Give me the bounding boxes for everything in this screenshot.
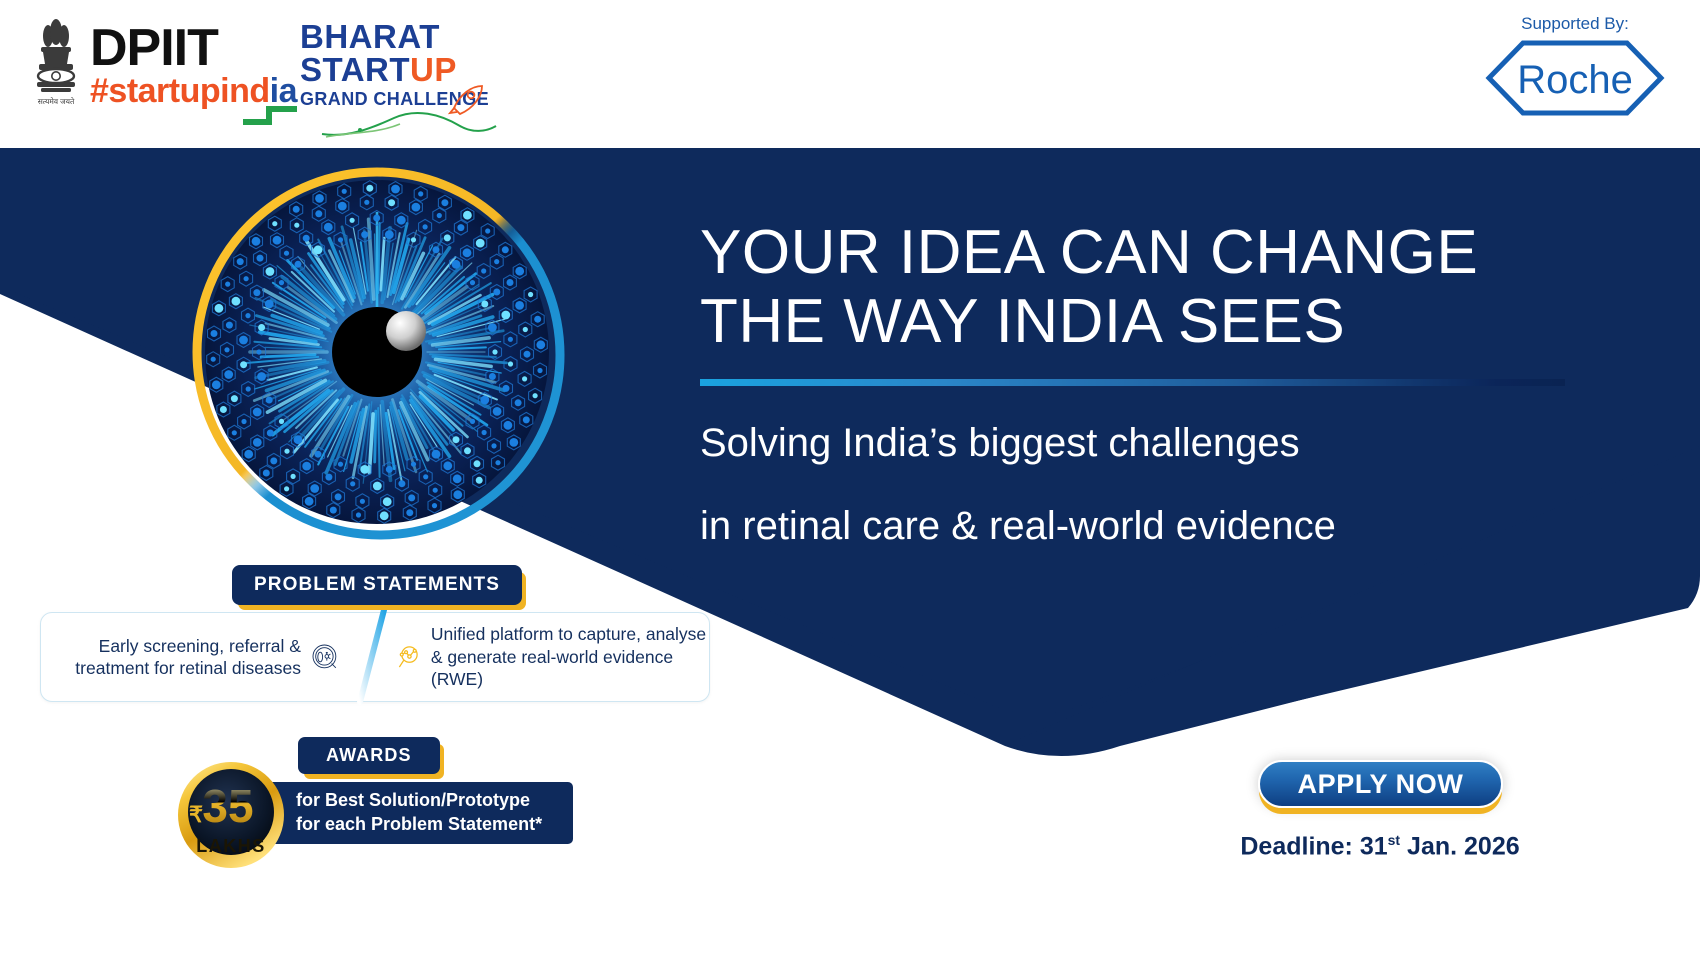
deadline-suffix: Jan. 2026: [1400, 832, 1520, 860]
awards-description-bar: for Best Solution/Prototype for each Pro…: [248, 782, 573, 844]
awards-badge: AWARDS: [298, 737, 440, 774]
supported-by-label: Supported By:: [1480, 14, 1670, 34]
supported-by-block: Supported By: Roche: [1480, 14, 1670, 122]
bharat-line1: BHARAT: [300, 20, 489, 53]
deadline-prefix: Deadline: 31: [1240, 832, 1387, 860]
ashoka-emblem-icon: सत्यमेव जयते: [28, 18, 84, 130]
data-magnifier-icon: [396, 630, 423, 684]
dpiit-startupindia-logo: सत्यमेव जयते DPIIT #startupindia: [28, 18, 297, 130]
problem-statement-2-label: Unified platform to capture, analyse & g…: [423, 623, 709, 690]
award-currency-symbol: ₹: [189, 802, 203, 827]
retina-scan-icon: [310, 632, 340, 682]
swoosh-icon: [320, 108, 500, 140]
apply-now-button[interactable]: APPLY NOW: [1258, 760, 1503, 808]
awards-desc-line-1: for Best Solution/Prototype: [296, 789, 542, 813]
header-bar: सत्यमेव जयते DPIIT #startupindia BHARAT: [0, 0, 1700, 148]
hero-text-block: YOUR IDEA CAN CHANGE THE WAY INDIA SEES …: [700, 218, 1580, 552]
svg-text:सत्यमेव जयते: सत्यमेव जयते: [38, 97, 75, 106]
digital-eye-graphic: [190, 165, 565, 540]
deadline-ordinal: st: [1388, 832, 1400, 848]
headline-divider: [700, 379, 1565, 386]
subhead-line-2: in retinal care & real-world evidence: [700, 501, 1580, 552]
bharat-startup-grand-challenge-logo: BHARAT STARTUP GRAND CHALLENGE: [300, 20, 489, 111]
headline-line-1: YOUR IDEA CAN CHANGE: [700, 218, 1580, 287]
card-divider: [346, 612, 396, 702]
startupindia-step-icon: [241, 100, 301, 126]
svg-text:Roche: Roche: [1517, 58, 1633, 102]
roche-logo: Roche: [1485, 39, 1665, 117]
deadline-text: Deadline: 31st Jan. 2026: [1230, 832, 1530, 861]
apply-now-label: APPLY NOW: [1298, 769, 1464, 800]
problem-statements-card: Early screening, referral & treatment fo…: [40, 612, 710, 702]
problem-statement-item-1[interactable]: Early screening, referral & treatment fo…: [41, 632, 346, 682]
award-unit-label: LAKHS: [196, 836, 266, 856]
problem-statement-1-label: Early screening, referral & treatment fo…: [41, 635, 310, 680]
headline-line-2: THE WAY INDIA SEES: [700, 287, 1580, 356]
problem-statement-item-2[interactable]: Unified platform to capture, analyse & g…: [396, 623, 709, 690]
award-amount-medallion: 35 ₹ LAKHS: [176, 760, 290, 870]
problem-statements-badge: PROBLEM STATEMENTS: [232, 565, 522, 605]
award-amount-value: 35: [202, 780, 253, 832]
campaign-poster: सत्यमेव जयते DPIIT #startupindia BHARAT: [0, 0, 1700, 960]
subhead-line-1: Solving India’s biggest challenges: [700, 418, 1580, 469]
awards-desc-line-2: for each Problem Statement*: [296, 813, 542, 837]
dpiit-title: DPIIT: [90, 22, 297, 74]
